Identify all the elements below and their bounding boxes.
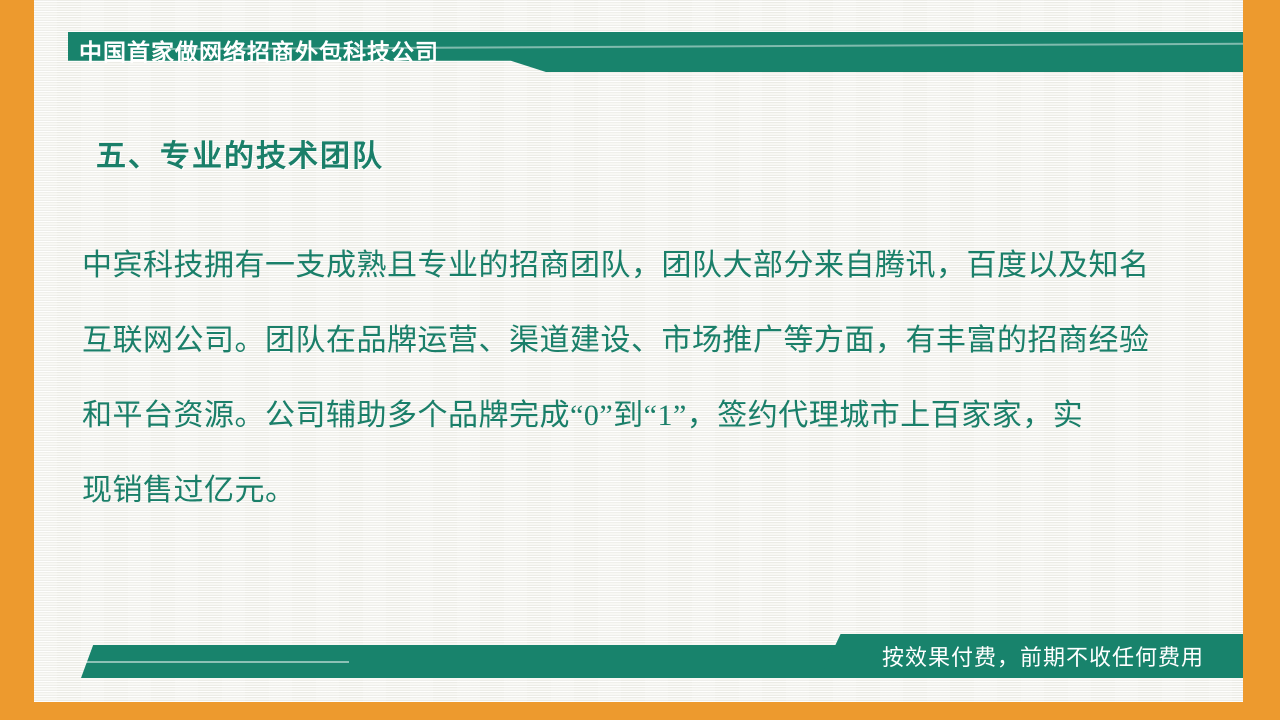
section-heading: 五、专业的技术团队 [96,136,384,178]
content-panel: 中国首家做网络招商外包科技公司 五、专业的技术团队 中宾科技拥有一支成熟且专业的… [34,0,1243,702]
body-line: 中宾科技拥有一支成熟且专业的招商团队，团队大部分来自腾讯，百度以及知名 [82,228,1214,303]
footer-tagline: 按效果付费，前期不收任何费用 [882,644,1204,672]
body-line: 互联网公司。团队在品牌运营、渠道建设、市场推广等方面，有丰富的招商经验 [82,303,1214,378]
slide-root: 中国首家做网络招商外包科技公司 五、专业的技术团队 中宾科技拥有一支成熟且专业的… [0,0,1280,720]
body-paragraph: 中宾科技拥有一支成熟且专业的招商团队，团队大部分来自腾讯，百度以及知名 互联网公… [82,228,1214,528]
header-title: 中国首家做网络招商外包科技公司 [79,36,439,68]
footer-accent-line [86,661,349,663]
body-line: 现销售过亿元。 [82,453,1214,528]
body-line: 和平台资源。公司辅助多个品牌完成“0”到“1”，签约代理城市上百家家，实 [82,378,1214,453]
